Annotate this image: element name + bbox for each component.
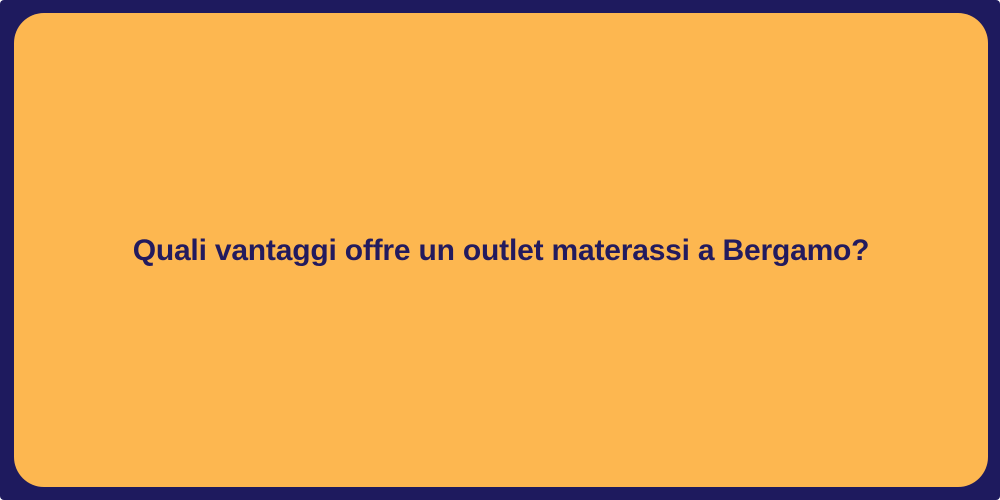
banner-card: Quali vantaggi offre un outlet materassi… (14, 13, 988, 487)
headline-text: Quali vantaggi offre un outlet materassi… (133, 231, 870, 270)
banner-frame: Quali vantaggi offre un outlet materassi… (0, 0, 1000, 500)
